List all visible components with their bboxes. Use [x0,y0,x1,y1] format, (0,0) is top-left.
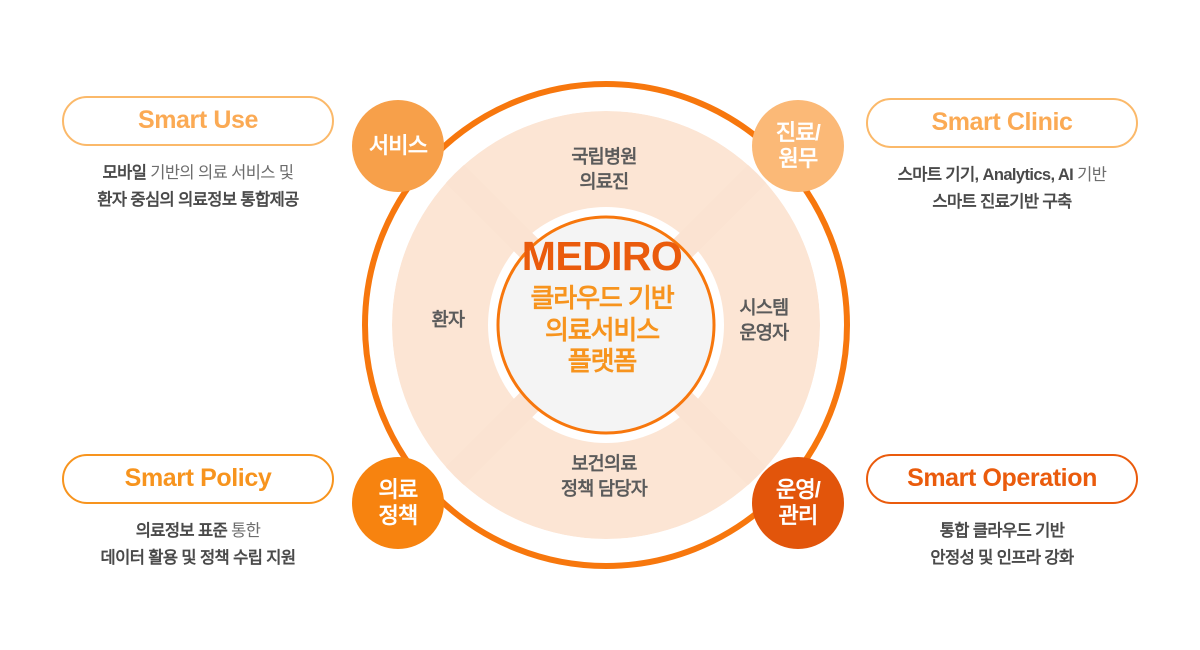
feature-smart-use-desc: 모바일 기반의 의료 서비스 및환자 중심의 의료정보 통합제공 [62,160,334,213]
feature-smart-clinic-desc-rest: 기반 [1073,166,1106,184]
brand-name: MEDIRO [492,236,712,278]
center-label: MEDIRO 클라우드 기반 의료서비스 플랫폼 [492,236,712,378]
ring-label-bottom: 보건의료 정책 담당자 [520,452,688,502]
feature-smart-use-title[interactable]: Smart Use [62,96,334,146]
feature-smart-clinic-desc: 스마트 기기, Analytics, AI 기반스마트 진료기반 구축 [866,162,1138,215]
feature-smart-policy-desc-strong: 의료정보 표준 [136,522,227,540]
feature-smart-use-desc-rest: 기반의 의료 서비스 및 [146,164,293,182]
brand-tagline: 클라우드 기반 의료서비스 플랫폼 [492,283,712,378]
feature-smart-policy-desc-line2: 데이터 활용 및 정책 수립 지원 [101,549,296,567]
feature-smart-operation-title[interactable]: Smart Operation [866,454,1138,504]
feature-smart-clinic: Smart Clinic 스마트 기기, Analytics, AI 기반스마트… [866,98,1138,216]
ring-label-right: 시스템 운영자 [712,296,816,346]
feature-smart-use-desc-strong: 모바일 [103,164,147,182]
feature-smart-policy: Smart Policy 의료정보 표준 통한데이터 활용 및 정책 수립 지원 [62,454,334,572]
feature-smart-clinic-desc-line2: 스마트 진료기반 구축 [932,193,1071,211]
feature-smart-operation-desc-strong: 통합 클라우드 기반 [940,522,1065,540]
feature-smart-use: Smart Use 모바일 기반의 의료 서비스 및환자 중심의 의료정보 통합… [62,96,334,214]
feature-smart-operation-desc: 통합 클라우드 기반안정성 및 인프라 강화 [866,518,1138,571]
diagram-canvas: MEDIRO 클라우드 기반 의료서비스 플랫폼 국립병원 의료진 시스템 운영… [0,0,1200,650]
feature-smart-policy-desc-rest: 통한 [227,522,260,540]
node-service[interactable]: 서비스 [352,100,444,192]
feature-smart-clinic-title[interactable]: Smart Clinic [866,98,1138,148]
feature-smart-operation-desc-line2: 안정성 및 인프라 강화 [930,549,1073,567]
feature-smart-policy-desc: 의료정보 표준 통한데이터 활용 및 정책 수립 지원 [62,518,334,571]
node-clinic[interactable]: 진료/ 원무 [752,100,844,192]
ring-label-left: 환자 [398,308,498,333]
feature-smart-operation: Smart Operation 통합 클라우드 기반안정성 및 인프라 강화 [866,454,1138,572]
feature-smart-policy-title[interactable]: Smart Policy [62,454,334,504]
node-operation[interactable]: 운영/ 관리 [752,457,844,549]
node-policy[interactable]: 의료 정책 [352,457,444,549]
feature-smart-clinic-desc-strong: 스마트 기기, Analytics, AI [898,166,1073,184]
feature-smart-use-desc-line2: 환자 중심의 의료정보 통합제공 [97,191,299,209]
ring-label-top: 국립병원 의료진 [524,145,684,195]
